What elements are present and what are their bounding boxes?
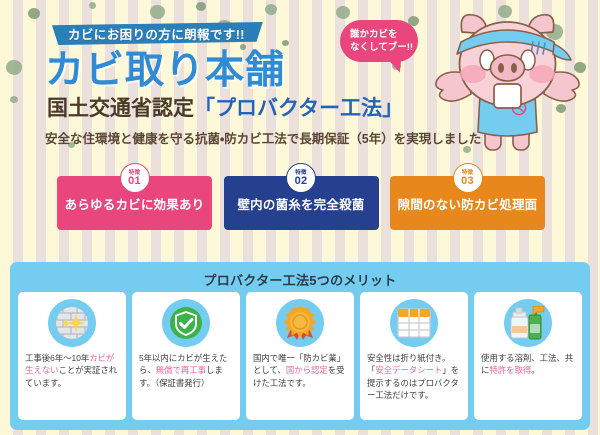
feature-box-02[interactable]: 特徴 02 壁内の菌糸を完全殺菌 [224, 176, 379, 230]
announcement-ribbon-label: カビにお困りの方に朗報です!! [68, 24, 245, 43]
merit-card-text: 使用する溶剤、工法、共に特許を取得。 [481, 352, 575, 377]
mold-spot [10, 96, 18, 103]
mold-spot [196, 2, 206, 11]
merit-card-text-plain: 。 [531, 365, 539, 375]
award-medal-icon [276, 299, 324, 347]
merit-card[interactable]: 使用する溶剤、工法、共に特許を取得。 [474, 292, 582, 420]
document-table-icon [390, 299, 438, 347]
announcement-ribbon: カビにお困りの方に朗報です!! [52, 22, 263, 45]
merits-panel: プロバクター工法5つのメリット 工事後6年〜10年カビが生えないことが実証されて… [10, 262, 590, 430]
mascot-speech-bubble: 誰かカビを なくしてブー!! [340, 20, 418, 62]
merit-card[interactable]: 安全性は折り紙付き。「安全データシート」を提示するのはプロバクター工法だけです。 [360, 292, 468, 420]
merit-card-text-plain: 工事後6年〜10年 [25, 353, 89, 363]
feature-badge-02: 特徴 02 [286, 163, 316, 193]
feature-badge-03: 特徴 03 [453, 163, 483, 193]
mold-spot [265, 4, 277, 15]
brick-wall-sparkle-icon [48, 299, 96, 347]
mold-spot [6, 60, 22, 75]
shield-check-icon [162, 299, 210, 347]
feature-box-01[interactable]: 特徴 01 あらゆるカビに効果あり [57, 176, 212, 230]
feature-badge-number-01: 01 [128, 175, 141, 187]
merits-panel-title: プロバクター工法5つのメリット [10, 266, 590, 292]
mascot-speech-line-2: なくしてブー!! [350, 41, 418, 54]
feature-badge-number-03: 03 [461, 175, 474, 187]
feature-text-03: 隙間のない防カビ処理面 [398, 194, 538, 213]
merit-card-text: 国内で唯一「防カビ業」として、国から認定を受けた工法です。 [253, 352, 347, 389]
merit-card-list: 工事後6年〜10年カビが生えないことが実証されています。 5年以内にカビが生えた… [10, 292, 590, 420]
merit-card[interactable]: 国内で唯一「防カビ業」として、国から認定を受けた工法です。 [246, 292, 354, 420]
merit-card-text-highlight: 特許を取得 [489, 365, 531, 375]
merit-card-text: 安全性は折り紙付き。「安全データシート」を提示するのはプロバクター工法だけです。 [367, 352, 461, 402]
feature-text-01: あらゆるカビに効果あり [65, 194, 205, 213]
mold-spot [89, 2, 96, 9]
feature-text-02: 壁内の菌糸を完全殺菌 [237, 194, 364, 213]
merit-card-text-highlight: 国から認定 [286, 365, 328, 375]
mold-spot [336, 6, 350, 19]
feature-badge-number-02: 02 [295, 175, 308, 187]
spray-bottles-icon [504, 299, 552, 347]
mold-spot [28, 8, 40, 19]
pig-mascot-illustration [425, 2, 590, 162]
feature-badge-01: 特徴 01 [120, 163, 150, 193]
merit-card-text: 工事後6年〜10年カビが生えないことが実証されています。 [25, 352, 119, 389]
merit-card[interactable]: 5年以内にカビが生えたら、無償で再工事します。（保証書発行） [132, 292, 240, 420]
mascot-speech-line-1: 誰かカビを [350, 28, 418, 41]
merit-card[interactable]: 工事後6年〜10年カビが生えないことが実証されています。 [18, 292, 126, 420]
feature-box-group: 特徴 01 あらゆるカビに効果あり 特徴 02 壁内の菌糸を完全殺菌 特徴 03… [57, 176, 545, 230]
mold-spot [282, 40, 289, 46]
landing-page: カビにお困りの方に朗報です!! カビ取り本舗 国土交通省認定「プロバクター工法」… [0, 0, 600, 435]
merit-card-text-highlight: 安全データシート [375, 365, 442, 375]
merit-card-text: 5年以内にカビが生えたら、無償で再工事します。（保証書発行） [139, 352, 233, 389]
page-subtitle: 国土交通省認定「プロバクター工法」 [47, 96, 403, 122]
page-subtitle-certification: 国土交通省認定 [47, 97, 194, 120]
page-subtitle-method: 「プロバクター工法」 [194, 97, 403, 120]
merit-card-text-highlight: 無償で再工事 [156, 365, 206, 375]
feature-box-03[interactable]: 特徴 03 隙間のない防カビ処理面 [390, 176, 545, 230]
mold-spot [150, 5, 165, 19]
page-title: カビ取り本舗 [45, 49, 285, 93]
